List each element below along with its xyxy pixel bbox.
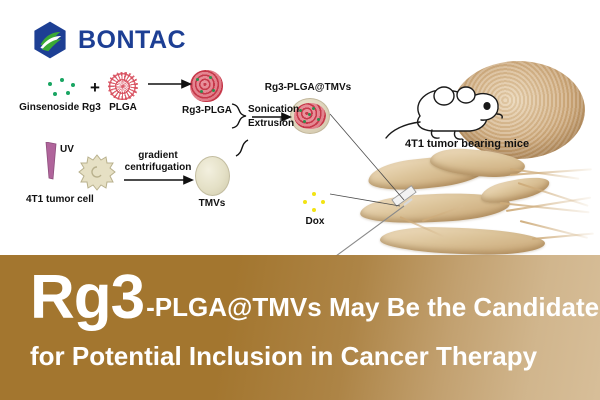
headline-rest: -PLGA@TMVs May Be the Candidates — [146, 292, 600, 323]
brand-logo: BONTAC — [30, 20, 186, 60]
mouse-icon — [386, 87, 502, 139]
bontac-hexagon-logo-icon — [30, 20, 70, 60]
syringe-icon — [336, 186, 416, 256]
brace-icon — [232, 104, 246, 128]
mechanism-diagram: Ginsenoside Rg3 + PLGA Rg3-PLGA Rg3-PLGA… — [0, 60, 600, 260]
arrow-right-icon — [124, 81, 290, 184]
headline-line-1: Rg3 -PLGA@TMVs May Be the Candidates — [30, 267, 600, 329]
brand-name: BONTAC — [78, 28, 186, 53]
connector-line-capsule — [330, 114, 404, 200]
headline-banner: Rg3 -PLGA@TMVs May Be the Candidates for… — [0, 255, 600, 400]
connector-line-dox — [330, 194, 400, 206]
label-4t1-tumor-bearing-mice: 4T1 tumor bearing mice — [405, 138, 529, 150]
headline-line-2: for Potential Inclusion in Cancer Therap… — [30, 341, 537, 372]
mouse-and-syringe-group — [0, 60, 600, 260]
headline-rg3: Rg3 — [30, 267, 144, 329]
poster-canvas: BONTAC Ginsenoside Rg3 + PLGA Rg3-PLGA R… — [0, 0, 600, 400]
brace-icon-lower — [236, 140, 248, 156]
